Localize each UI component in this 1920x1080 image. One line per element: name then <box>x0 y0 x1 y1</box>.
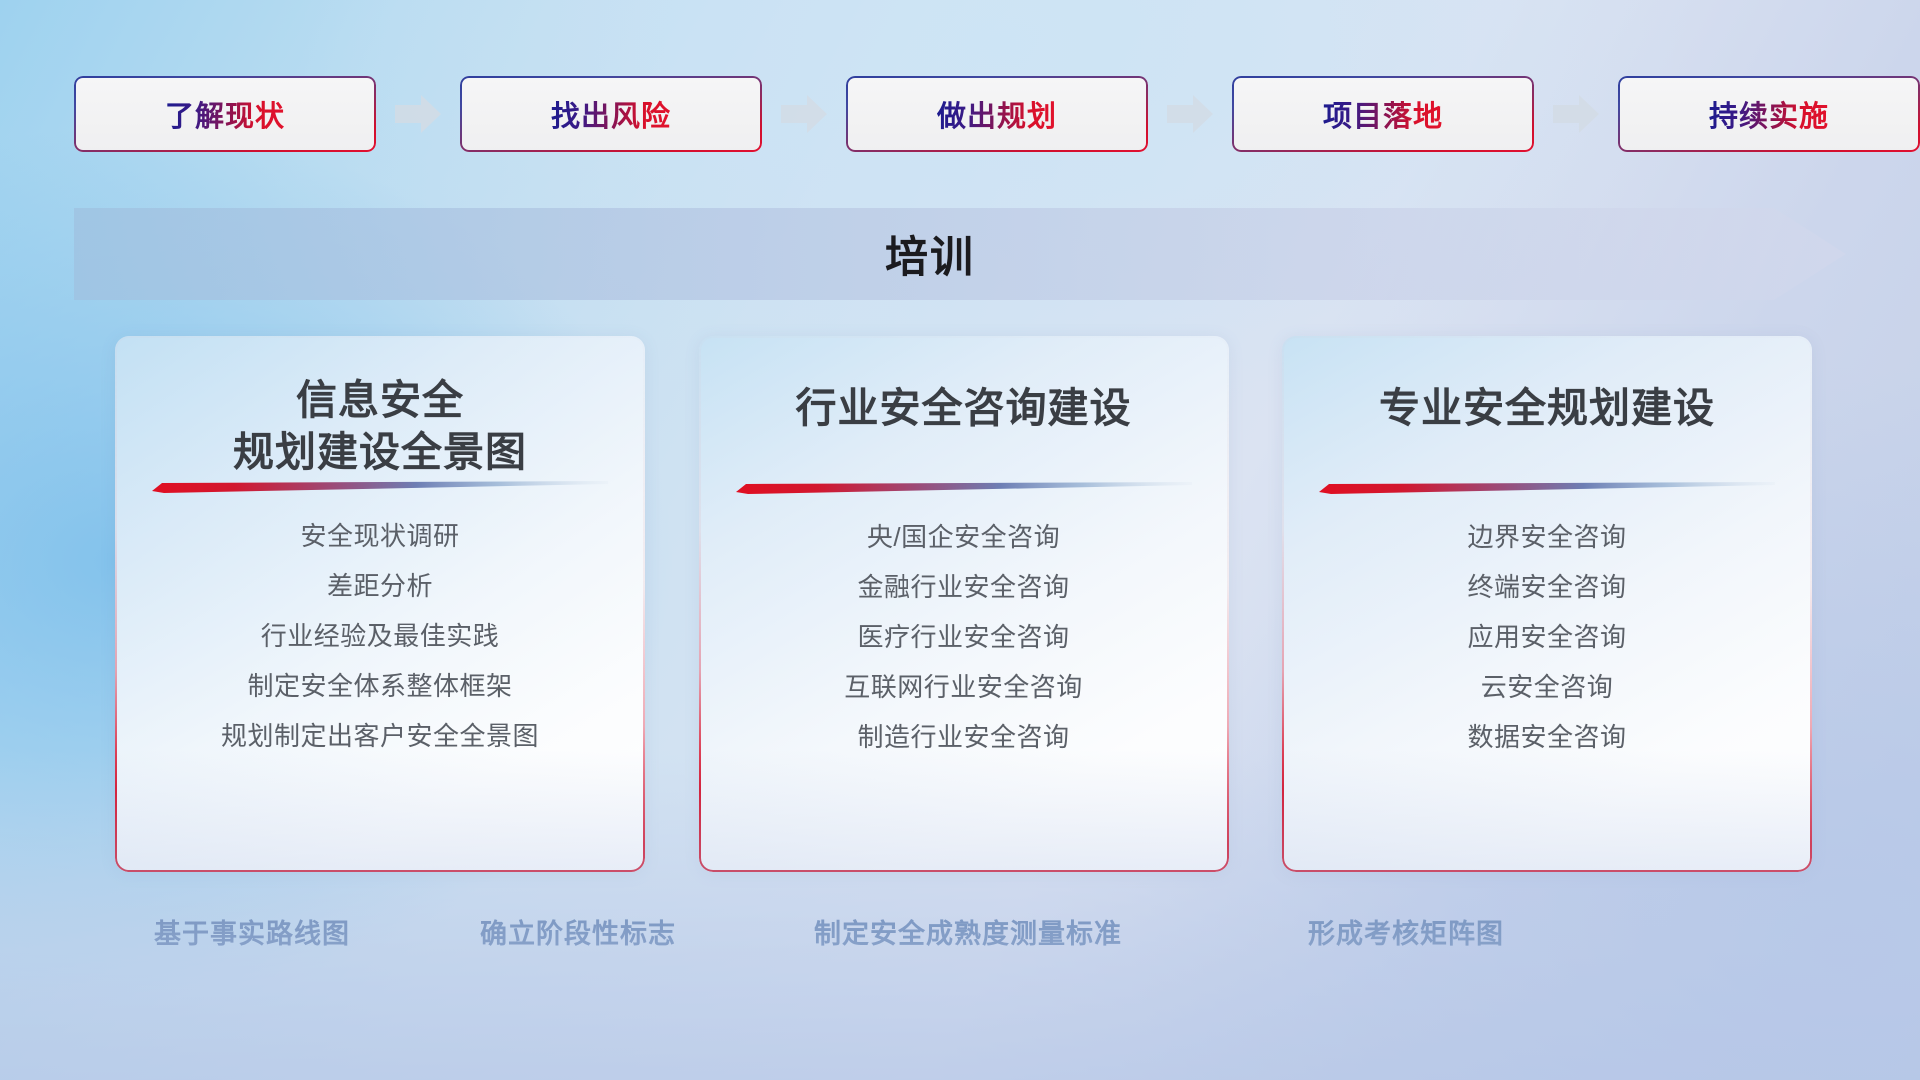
footnote-3: 制定安全成熟度测量标准 <box>814 912 1122 951</box>
step-box-5[interactable]: 持续实施 <box>1618 76 1920 152</box>
step-label-1: 了解现状 <box>165 93 285 135</box>
training-banner-label: 培训 <box>74 208 1846 300</box>
card-row: 信息安全 规划建设全景图 <box>115 336 1812 872</box>
footnote-4: 形成考核矩阵图 <box>1308 912 1504 951</box>
card-title-1: 信息安全 规划建设全景图 <box>115 374 645 479</box>
card-list-item: 制定安全体系整体框架 <box>115 661 645 711</box>
card-list-item: 边界安全咨询 <box>1282 512 1812 562</box>
card-list-2: 央/国企安全咨询 金融行业安全咨询 医疗行业安全咨询 互联网行业安全咨询 制造行… <box>699 512 1229 762</box>
step-box-1[interactable]: 了解现状 <box>74 76 376 152</box>
card-list-item: 行业经验及最佳实践 <box>115 611 645 661</box>
training-banner: 培训 <box>74 208 1846 300</box>
step-arrow-icon-3 <box>1167 94 1213 134</box>
process-step-row: 了解现状 找出风险 做出规划 项目落地 <box>74 76 1846 152</box>
step-label-2: 找出风险 <box>551 93 671 135</box>
card-professional-security-planning[interactable]: 专业安全规划建设 <box>1282 336 1812 872</box>
card-list-item: 云安全咨询 <box>1282 662 1812 712</box>
step-arrow-icon-1 <box>395 94 441 134</box>
step-box-2[interactable]: 找出风险 <box>460 76 762 152</box>
card-list-item: 金融行业安全咨询 <box>699 562 1229 612</box>
card-list-item: 互联网行业安全咨询 <box>699 662 1229 712</box>
card-list-1: 安全现状调研 差距分析 行业经验及最佳实践 制定安全体系整体框架 规划制定出客户… <box>115 511 645 761</box>
card-list-item: 终端安全咨询 <box>1282 562 1812 612</box>
card-divider-1 <box>152 479 608 493</box>
card-industry-security-consulting[interactable]: 行业安全咨询建设 <box>699 336 1229 872</box>
step-label-4: 项目落地 <box>1323 93 1443 135</box>
footnote-1: 基于事实路线图 <box>154 912 350 951</box>
card-divider-3 <box>1319 480 1775 494</box>
slide-canvas: 了解现状 找出风险 做出规划 项目落地 <box>0 0 1920 1080</box>
step-arrow-icon-4 <box>1553 94 1599 134</box>
card-list-3: 边界安全咨询 终端安全咨询 应用安全咨询 云安全咨询 数据安全咨询 <box>1282 512 1812 762</box>
card-list-item: 安全现状调研 <box>115 511 645 561</box>
step-label-5: 持续实施 <box>1709 93 1829 135</box>
step-label-3: 做出规划 <box>937 93 1057 135</box>
step-box-3[interactable]: 做出规划 <box>846 76 1148 152</box>
card-divider-2 <box>736 480 1192 494</box>
card-list-item: 应用安全咨询 <box>1282 612 1812 662</box>
footnote-row: 基于事实路线图 确立阶段性标志 制定安全成熟度测量标准 形成考核矩阵图 <box>0 912 1920 960</box>
card-title-3: 专业安全规划建设 <box>1282 382 1812 434</box>
card-list-item: 医疗行业安全咨询 <box>699 612 1229 662</box>
card-list-item: 央/国企安全咨询 <box>699 512 1229 562</box>
card-list-item: 数据安全咨询 <box>1282 712 1812 762</box>
footnote-2: 确立阶段性标志 <box>480 912 676 951</box>
card-title-2: 行业安全咨询建设 <box>699 382 1229 434</box>
card-list-item: 制造行业安全咨询 <box>699 712 1229 762</box>
step-arrow-icon-2 <box>781 94 827 134</box>
card-list-item: 差距分析 <box>115 561 645 611</box>
step-box-4[interactable]: 项目落地 <box>1232 76 1534 152</box>
card-list-item: 规划制定出客户安全全景图 <box>115 711 645 761</box>
card-information-security-panorama[interactable]: 信息安全 规划建设全景图 <box>115 336 645 872</box>
